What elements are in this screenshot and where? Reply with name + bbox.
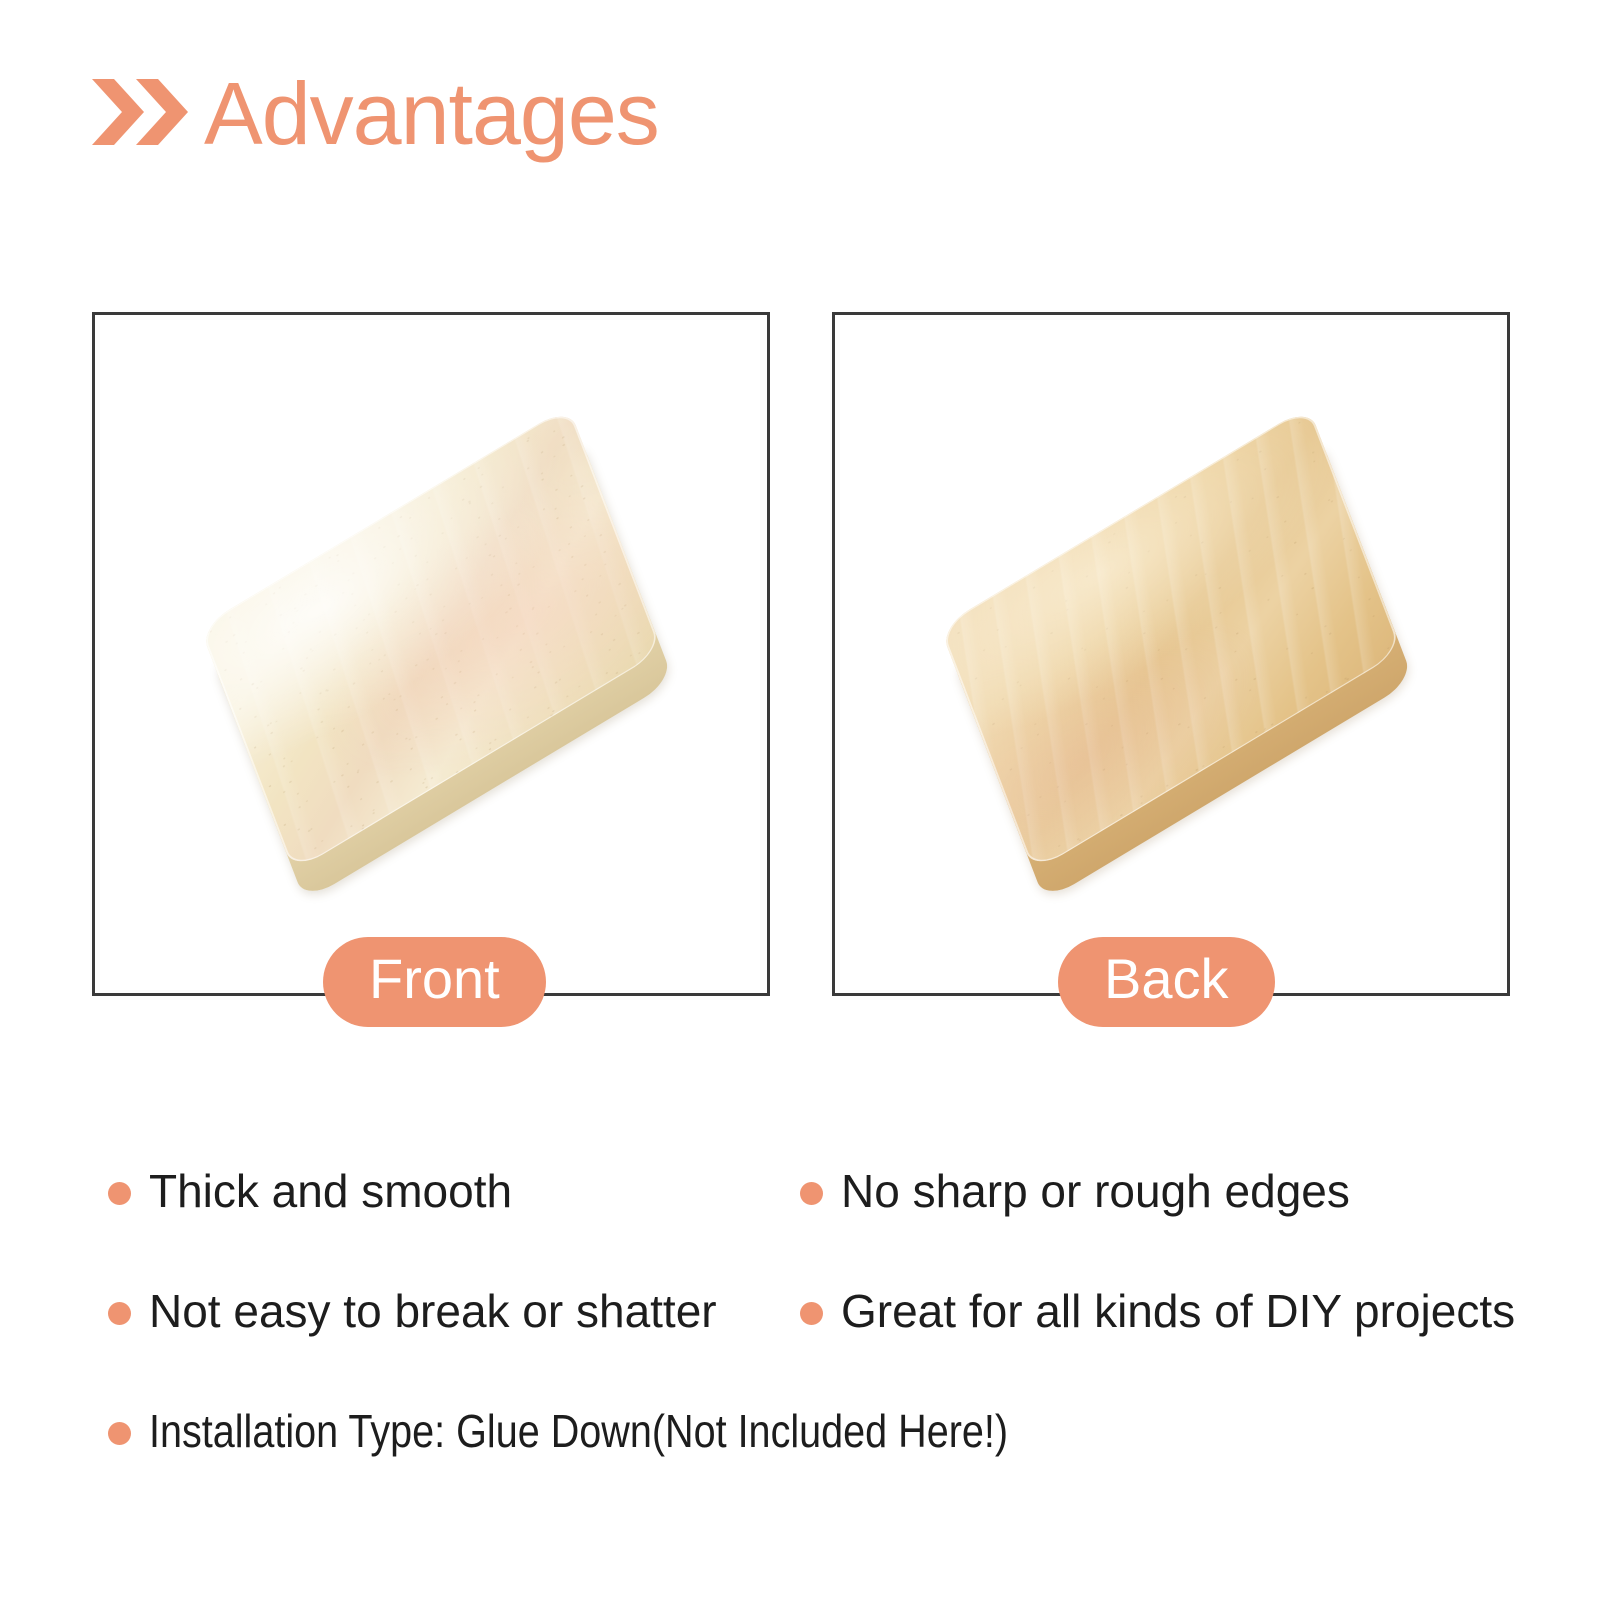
feature-item: No sharp or rough edges	[800, 1168, 1350, 1214]
page-title: Advantages	[204, 70, 659, 158]
feature-label: Not easy to break or shatter	[149, 1288, 717, 1334]
feature-item: Not easy to break or shatter	[108, 1288, 717, 1334]
page-header: Advantages	[92, 70, 659, 158]
bullet-dot-icon	[800, 1302, 823, 1325]
feature-label: Great for all kinds of DIY projects	[841, 1288, 1515, 1334]
product-image-back	[835, 315, 1507, 993]
product-image-frame-back	[832, 312, 1510, 996]
product-image-front	[95, 315, 767, 993]
mosaic-tile-back-illustration	[940, 406, 1402, 872]
feature-label: No sharp or rough edges	[841, 1168, 1350, 1214]
feature-item: Thick and smooth	[108, 1168, 512, 1214]
mosaic-tile-front-illustration	[200, 406, 662, 872]
caption-badge-front: Front	[323, 937, 546, 1027]
bullet-dot-icon	[108, 1422, 131, 1445]
bullet-dot-icon	[108, 1302, 131, 1325]
feature-label: Installation Type: Glue Down(Not Include…	[149, 1408, 1008, 1454]
caption-badge-back: Back	[1058, 937, 1275, 1027]
feature-label: Thick and smooth	[149, 1168, 512, 1214]
double-chevron-right-icon	[92, 79, 188, 150]
bullet-dot-icon	[108, 1182, 131, 1205]
product-image-frame-front	[92, 312, 770, 996]
feature-item: Installation Type: Glue Down(Not Include…	[108, 1408, 1148, 1454]
bullet-dot-icon	[800, 1182, 823, 1205]
feature-item: Great for all kinds of DIY projects	[800, 1288, 1515, 1334]
